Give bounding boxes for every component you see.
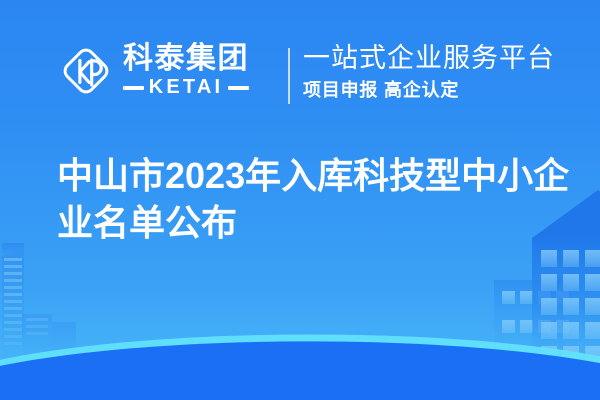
dash-icon-left (123, 86, 144, 90)
page-title: 中山市2023年入库科技型中小企业名单公布 (57, 152, 577, 246)
article-cover-banner: 科泰集团 KETAI 一站式企业服务平台 项目申报 高企认定 中山市2023年入… (0, 0, 600, 400)
brand-logo[interactable]: 科泰集团 KETAI (58, 41, 249, 99)
vertical-divider-icon (288, 48, 290, 104)
ketai-diamond-kp-monogram-icon (58, 43, 114, 99)
brand-tagline: 一站式企业服务平台 项目申报 高企认定 (303, 42, 573, 102)
brand-name-chinese: 科泰集团 (123, 43, 249, 74)
brand-wordmark: 科泰集团 KETAI (123, 43, 249, 98)
banner-header: 科泰集团 KETAI 一站式企业服务平台 项目申报 高企认定 (0, 0, 600, 140)
tagline-secondary: 项目申报 高企认定 (303, 78, 573, 102)
skyline-left-tower (2, 243, 24, 360)
dash-icon-right (228, 86, 249, 90)
brand-name-english: KETAI (149, 77, 224, 98)
tagline-primary: 一站式企业服务平台 (303, 42, 573, 75)
brand-name-english-row: KETAI (123, 77, 249, 98)
